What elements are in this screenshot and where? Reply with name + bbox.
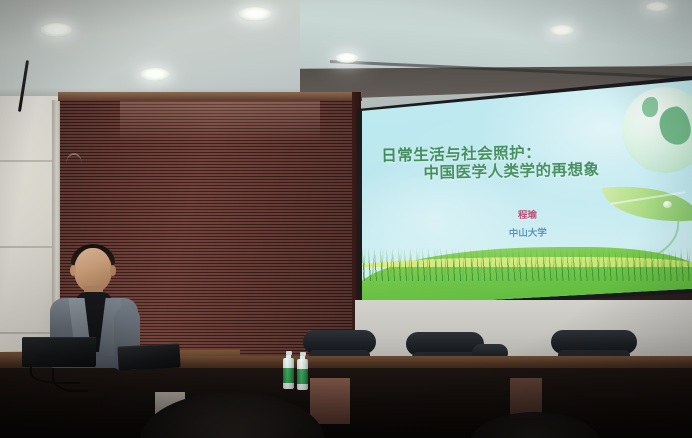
ceiling-light-2 xyxy=(140,68,170,81)
ceiling-light-6 xyxy=(645,2,669,12)
bottle-label xyxy=(297,369,308,384)
bottle-label xyxy=(283,368,294,383)
ceiling-light-3 xyxy=(238,7,272,21)
laptop-2[interactable] xyxy=(117,343,180,370)
slide-title-line-2: 中国医学人类学的再想象 xyxy=(423,158,599,184)
lecture-hall-photo: 日常生活与社会照护： 中国医学人类学的再想象 程瑜 中山大学 xyxy=(0,0,692,438)
projection-screen[interactable]: 日常生活与社会照护： 中国医学人类学的再想象 程瑜 中山大学 xyxy=(362,79,692,307)
ceiling-light-4 xyxy=(335,53,359,63)
slide-affiliation: 中山大学 xyxy=(363,222,692,243)
table-front-panel xyxy=(310,378,350,424)
laptop-screen xyxy=(22,337,96,367)
laptop-screen xyxy=(117,343,180,370)
ceiling-light-1 xyxy=(40,23,73,37)
laptop-1[interactable] xyxy=(22,337,96,367)
water-bottle-1[interactable] xyxy=(283,351,294,389)
ceiling-light-5 xyxy=(549,25,575,36)
slide-text-block: 日常生活与社会照护： 中国医学人类学的再想象 程瑜 中山大学 xyxy=(362,79,692,307)
water-bottle-2[interactable] xyxy=(297,352,308,390)
wood-wall-top-trim xyxy=(58,92,362,101)
ear-left xyxy=(70,265,76,276)
slide-presenter-name: 程瑜 xyxy=(362,204,692,225)
ear-right xyxy=(110,265,116,276)
